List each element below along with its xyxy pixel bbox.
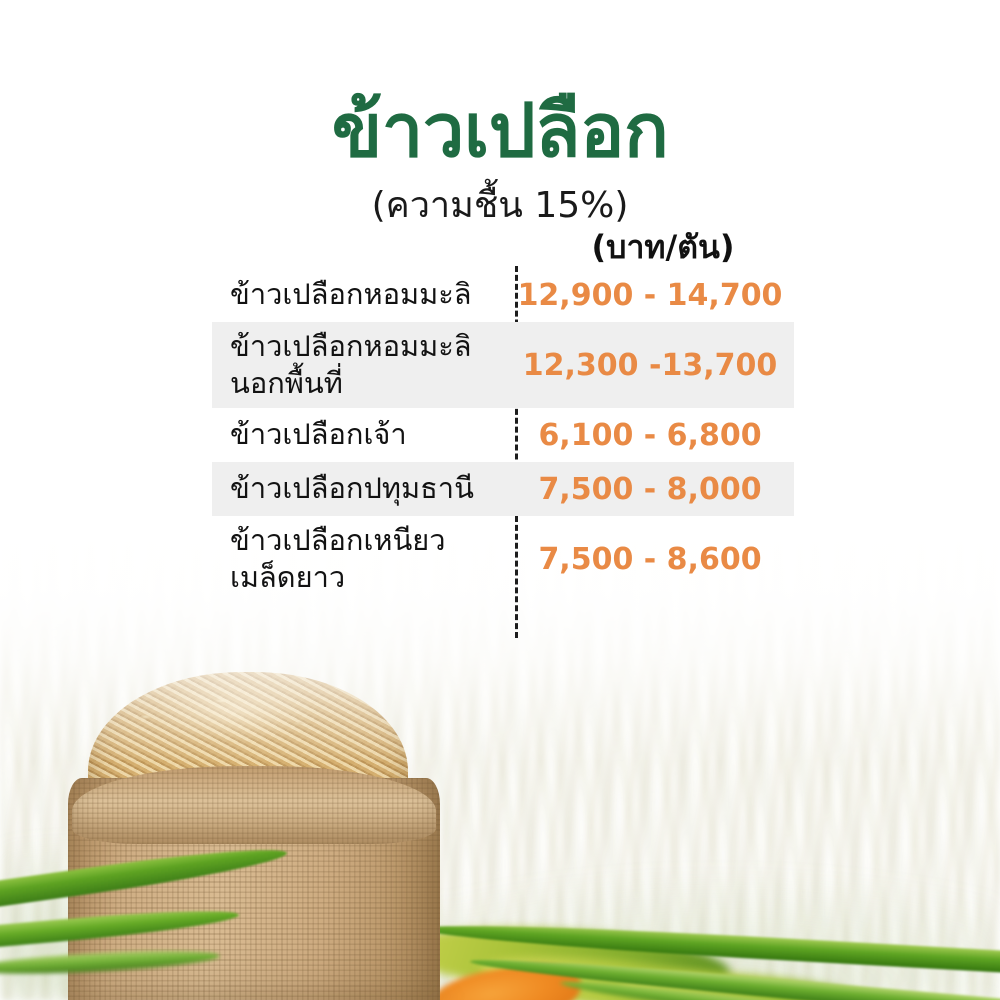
rice-type-label: ข้าวเปลือกเจ้า [212,416,512,453]
table-row: ข้าวเปลือกหอมมะลิ12,900 - 14,700 [212,268,794,322]
poster-canvas: ข้าวเปลือก (ความชื้น 15%) (บาท/ตัน) ข้าว… [0,0,1000,1000]
rice-type-label: ข้าวเปลือกหอมมะลินอกพื้นที่ [212,328,512,402]
price-range-value: 7,500 - 8,000 [512,472,794,507]
price-unit-header: (บาท/ตัน) [528,230,798,265]
table-row: ข้าวเปลือกหอมมะลินอกพื้นที่12,300 -13,70… [212,322,794,408]
page-title: ข้าวเปลือก [0,94,1000,168]
moisture-subtitle: (ความชื้น 15%) [0,186,1000,226]
table-row: ข้าวเปลือกปทุมธานี7,500 - 8,000 [212,462,794,516]
price-range-value: 7,500 - 8,600 [512,542,794,577]
rice-type-label: ข้าวเปลือกเหนียวเมล็ดยาว [212,522,512,596]
poster-content: ข้าวเปลือก (ความชื้น 15%) (บาท/ตัน) ข้าว… [0,0,1000,1000]
price-range-value: 12,300 -13,700 [512,348,794,383]
price-range-value: 12,900 - 14,700 [512,278,794,313]
price-range-value: 6,100 - 6,800 [512,418,794,453]
price-table: ข้าวเปลือกหอมมะลิ12,900 - 14,700ข้าวเปลื… [212,268,794,602]
table-row: ข้าวเปลือกเจ้า6,100 - 6,800 [212,408,794,462]
rice-type-label: ข้าวเปลือกหอมมะลิ [212,276,512,313]
table-row: ข้าวเปลือกเหนียวเมล็ดยาว7,500 - 8,600 [212,516,794,602]
rice-type-label: ข้าวเปลือกปทุมธานี [212,470,512,507]
